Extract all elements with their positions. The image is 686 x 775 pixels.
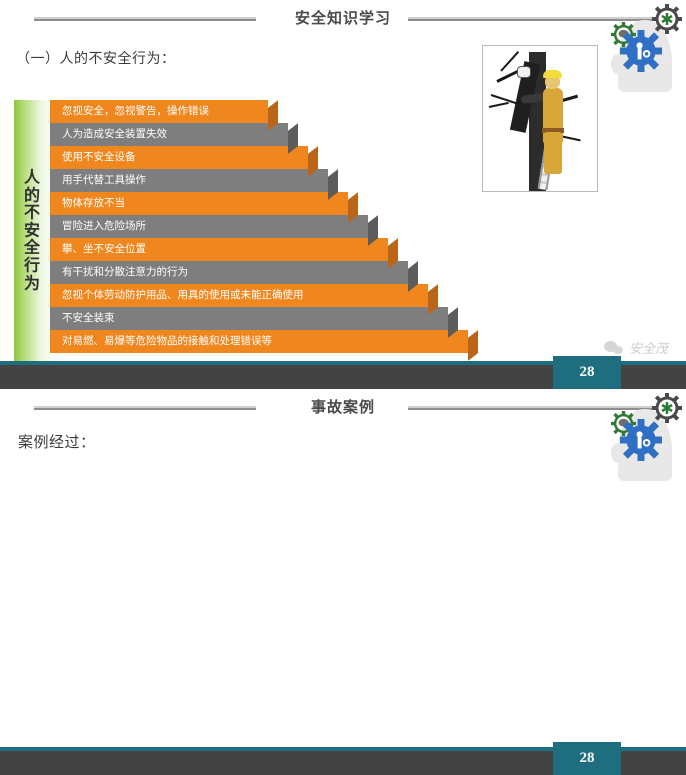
slide-safety-knowledge: 安全知识学习 [0,0,686,389]
vlabel-char: 人 [14,169,50,187]
staircase-step: 用手代替工具操作 [50,169,328,192]
page-number-badge: 28 [553,742,621,775]
vlabel-char: 不 [14,205,50,223]
slide2-footer: 28 [0,747,686,775]
title-rule-left [34,406,256,410]
staircase-step: 使用不安全设备 [50,146,308,169]
page-title: 安全知识学习 [281,7,405,28]
staircase-step: 对易燃、易爆等危险物品的接触和处理错误等 [50,330,468,353]
tree-branch [489,102,509,108]
unsafe-behavior-staircase: 人 的 不 安 全 行 为 忽视安全，忽视警告，操作错误人为造成安全装置失效使用… [14,100,454,362]
staircase-step: 不安全装束 [50,307,448,330]
vlabel-char: 全 [14,240,50,258]
slide1-header: 安全知识学习 [0,0,686,34]
slide1-footer: 28 [0,361,686,389]
watermark-brand-1: 安全茂 [604,338,668,357]
staircase-side-panel: 人 的 不 安 全 行 为 [14,100,50,362]
animal-in-tree [517,66,531,78]
staircase-step-edge [468,330,478,361]
tree-ladder-illustration [482,45,598,192]
vlabel-char: 安 [14,222,50,240]
vlabel-char: 行 [14,257,50,275]
gear-decoration-cluster-2 [594,389,684,485]
gear-person-icon [620,419,662,461]
vlabel-char: 的 [14,187,50,205]
staircase-step: 冒险进入危险场所 [50,215,368,238]
staircase-step: 有干扰和分散注意力的行为 [50,261,408,284]
gear-person-icon [620,30,662,72]
worker-legs [544,132,562,174]
staircase-step: 攀、坐不安全位置 [50,238,388,261]
page-title: 事故案例 [297,396,389,417]
illustration-canvas [483,46,597,191]
staircase-vertical-label: 人 的 不 安 全 行 为 [14,169,50,292]
staircase-step: 忽视个体劳动防护用品、用具的使用或未能正确使用 [50,284,428,307]
case-heading: 案例经过： [18,431,96,452]
vlabel-char: 为 [14,275,50,293]
wechat-icon [604,340,624,355]
watermark-text: 安全茂 [629,338,668,357]
section-subheading: （一）人的不安全行为： [16,48,176,68]
staircase-step: 人为造成安全装置失效 [50,123,288,146]
slide-accident-case: 事故案例 [0,389,686,775]
slide2-header: 事故案例 [0,389,686,423]
staircase-step: 忽视安全，忽视警告，操作错误 [50,100,268,123]
staircase-step: 物体存放不当 [50,192,348,215]
worker-helmet [543,70,562,78]
gear-decoration-cluster-1 [594,0,684,96]
page-number-badge: 28 [553,356,621,389]
title-rule-left [34,17,256,21]
